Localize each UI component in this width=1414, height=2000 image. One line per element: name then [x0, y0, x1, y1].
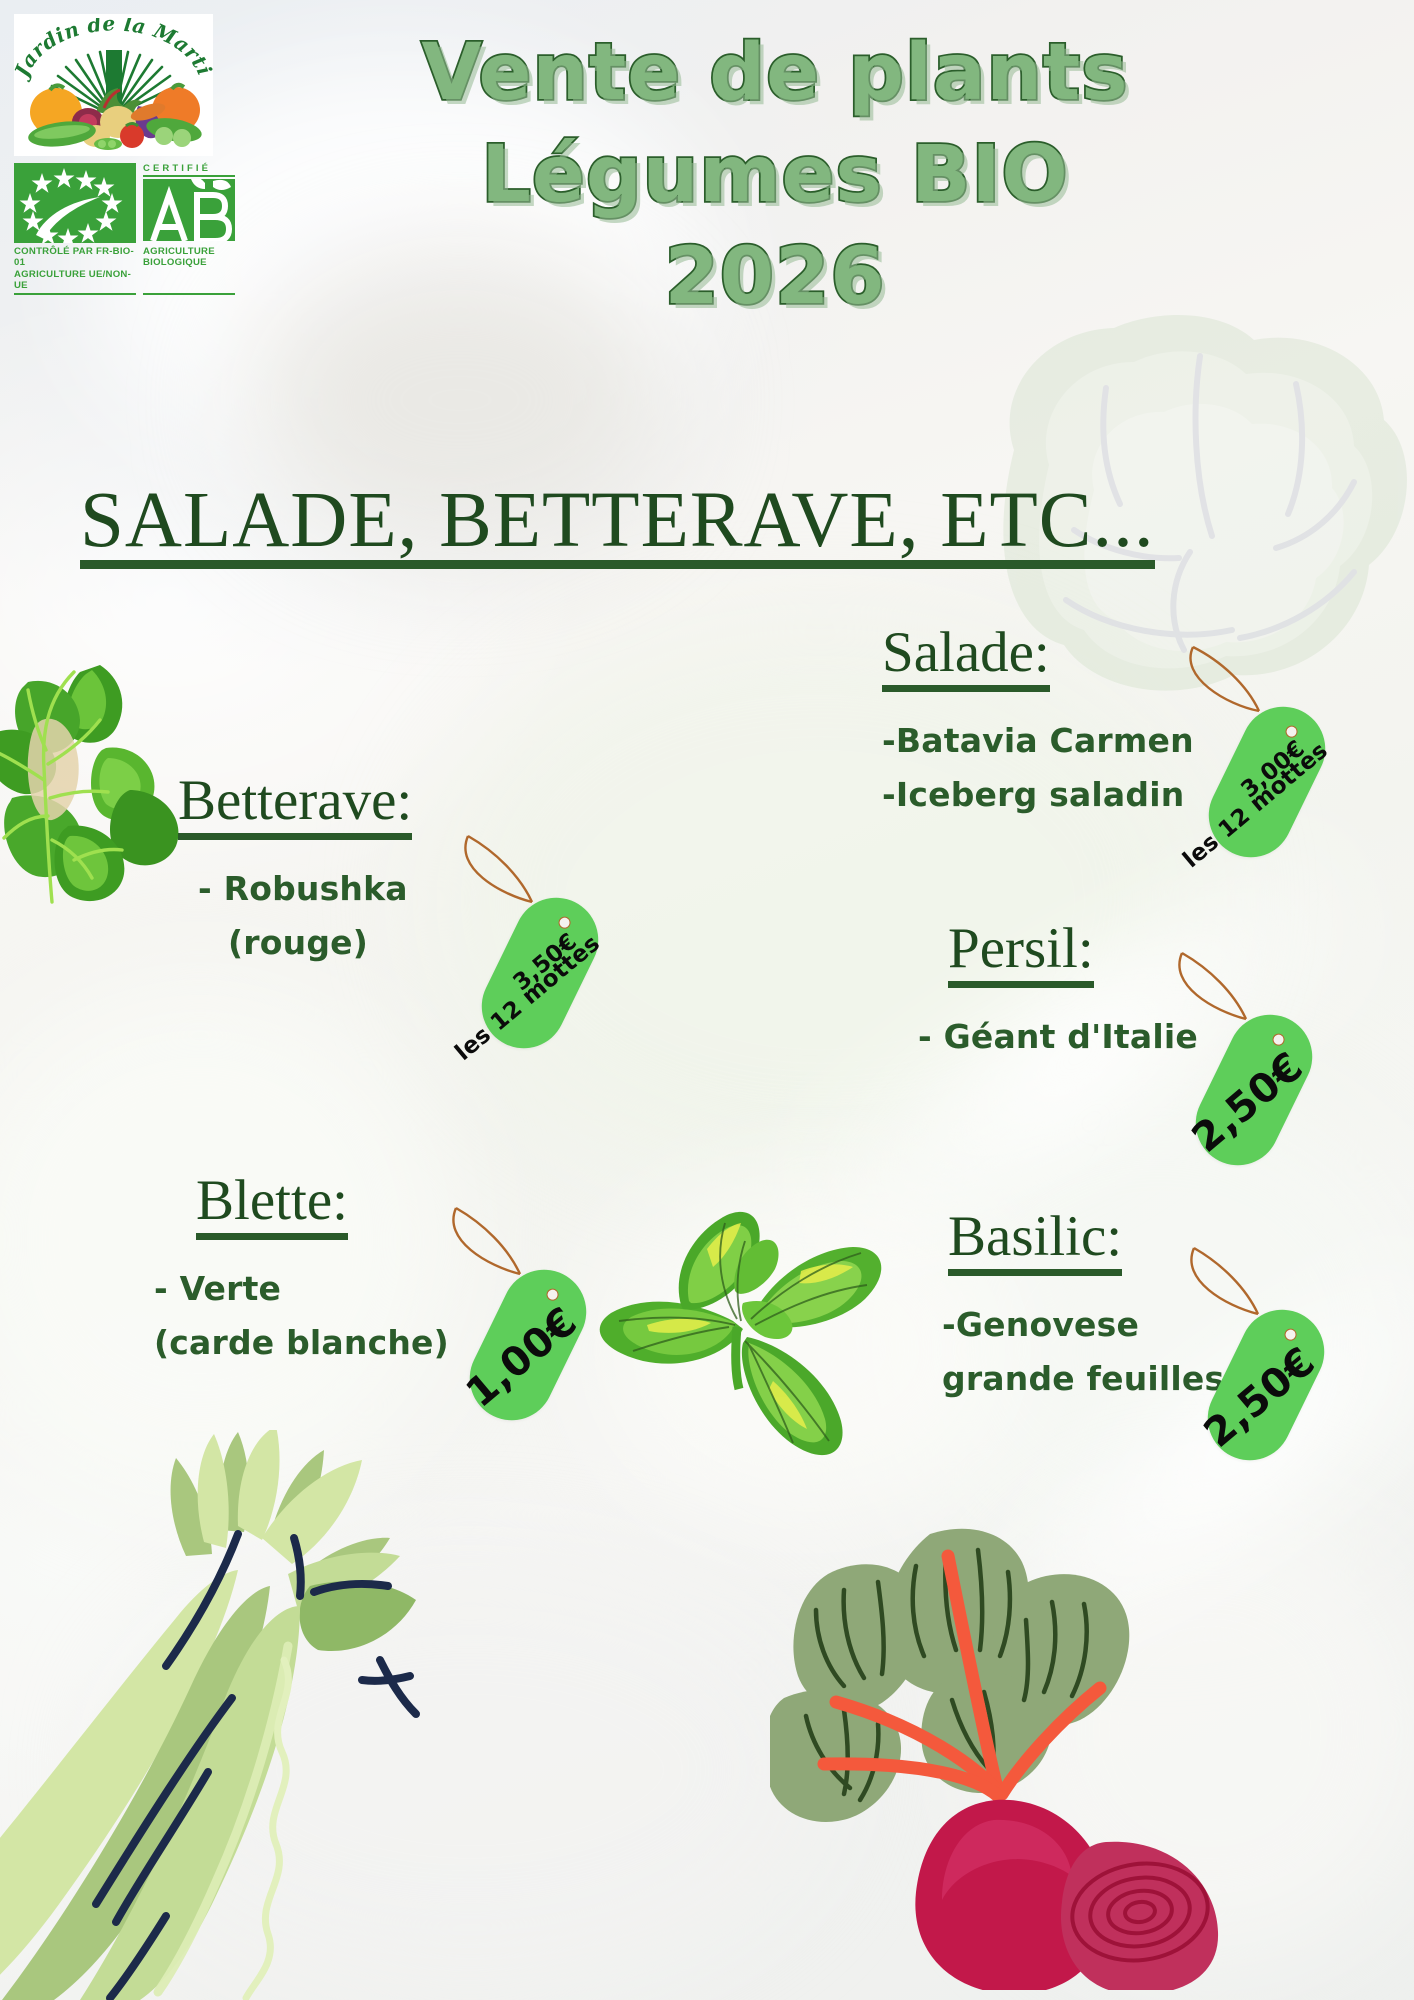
background-blob [120, 1560, 820, 1980]
ab-letters-icon [143, 179, 235, 241]
basil-plant-illustration [585, 1175, 935, 1490]
eu-caption-line1: CONTRÔLÉ PAR FR-BIO-01 [14, 246, 134, 268]
logo-vegetables-icon [26, 82, 202, 150]
list-item: -Iceberg saladin [882, 768, 1194, 822]
poster-canvas: Le Jardin de la Martinie [0, 0, 1414, 2000]
list-item: -Genovese [942, 1298, 1224, 1352]
section-banner: SALADE, BETTERAVE, ETC... [80, 478, 1340, 569]
category-blette: Blette: - Verte (carde blanche) [196, 1170, 449, 1370]
section-banner-text: SALADE, BETTERAVE, ETC... [80, 483, 1155, 569]
parsley-leaf-illustration [0, 640, 197, 915]
category-betterave-items: - Robushka (rouge) [178, 862, 412, 970]
title-line-1: Vente de plants [350, 22, 1200, 124]
certification-captions: CONTRÔLÉ PAR FR-BIO-01 AGRICULTURE UE/NO… [14, 246, 239, 295]
jardin-de-la-martinie-logo: Le Jardin de la Martinie [14, 14, 213, 156]
list-item: (rouge) [178, 916, 412, 970]
category-betterave: Betterave: - Robushka (rouge) [178, 770, 412, 970]
title-line-2: Légumes BIO [350, 124, 1200, 226]
category-salade-items: -Batavia Carmen -Iceberg saladin [882, 714, 1194, 822]
list-item: grande feuilles [942, 1352, 1224, 1406]
category-salade-heading: Salade: [882, 622, 1050, 692]
category-salade: Salade: -Batavia Carmen -Iceberg saladin [882, 622, 1194, 822]
eu-certification-caption: CONTRÔLÉ PAR FR-BIO-01 AGRICULTURE UE/NO… [14, 246, 136, 295]
category-basilic-items: -Genovese grande feuilles [942, 1298, 1224, 1406]
price-unit: les 12 mottes [450, 930, 605, 1066]
ab-certification-logo: CERTIFIÉ [143, 163, 235, 241]
category-blette-heading: Blette: [196, 1170, 348, 1240]
ab-letters-box [143, 179, 235, 241]
price-unit: les 12 mottes [1178, 738, 1333, 874]
eu-caption-line2: AGRICULTURE UE/NON-UE [14, 269, 131, 291]
eu-organic-leaf-icon [14, 163, 136, 243]
category-persil: Persil: - Géant d'Italie [948, 918, 1198, 1064]
list-item: -Batavia Carmen [882, 714, 1194, 768]
category-betterave-heading: Betterave: [178, 770, 412, 840]
category-basilic: Basilic: -Genovese grande feuilles [948, 1206, 1224, 1406]
category-basilic-heading: Basilic: [948, 1206, 1122, 1276]
ab-caption-line1: AGRICULTURE [143, 246, 215, 257]
category-persil-heading: Persil: [948, 918, 1094, 988]
list-item: - Robushka [178, 862, 412, 916]
certification-logos: CERTIFIÉ [14, 163, 239, 243]
list-item: - Verte [154, 1262, 449, 1316]
title-line-3: 2026 [350, 226, 1200, 328]
category-persil-items: - Géant d'Italie [918, 1010, 1198, 1064]
brand-block: Le Jardin de la Martinie [14, 14, 239, 295]
list-item: (carde blanche) [154, 1316, 449, 1370]
ab-certification-caption: AGRICULTURE BIOLOGIQUE [143, 246, 235, 295]
background-blob [980, 1500, 1414, 1960]
celery-stalk-illustration [0, 1430, 430, 2000]
ab-caption-line2: BIOLOGIQUE [143, 257, 207, 268]
ab-certifie-label: CERTIFIÉ [143, 163, 235, 177]
category-blette-items: - Verte (carde blanche) [154, 1262, 449, 1370]
list-item: - Géant d'Italie [918, 1010, 1198, 1064]
beetroot-illustration [770, 1520, 1240, 1995]
poster-title: Vente de plants Légumes BIO 2026 [350, 22, 1200, 328]
